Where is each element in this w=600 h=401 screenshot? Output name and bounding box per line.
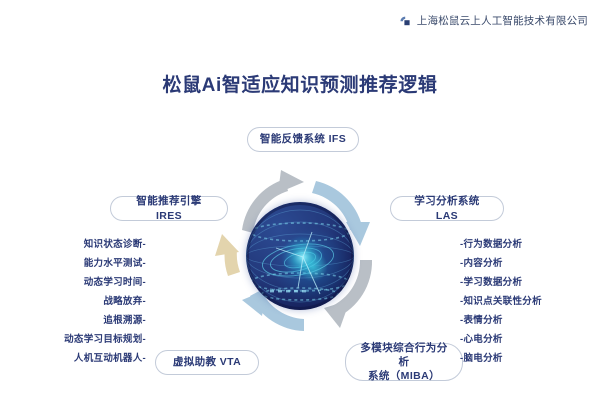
list-item: -脑电分析 bbox=[460, 349, 594, 368]
list-item: -表情分析 bbox=[460, 311, 594, 330]
node-ifs-label: 智能反馈系统 IFS bbox=[260, 132, 346, 146]
list-item: -心电分析 bbox=[460, 330, 594, 349]
node-las-label: 学习分析系统 LAS bbox=[402, 194, 492, 222]
list-item: 人机互动机器人- bbox=[12, 349, 146, 368]
list-item: 战略放弃- bbox=[12, 292, 146, 311]
list-item: 能力水平测试- bbox=[12, 254, 146, 273]
list-item: -知识点关联性分析 bbox=[460, 292, 594, 311]
left-feature-list: 知识状态诊断- 能力水平测试- 动态学习时间- 战略放弃- 追根溯源- 动态学习… bbox=[12, 235, 146, 368]
list-item: 知识状态诊断- bbox=[12, 235, 146, 254]
node-ires[interactable]: 智能推荐引擎 IRES bbox=[110, 196, 228, 221]
header: 上海松鼠云上人工智能技术有限公司 bbox=[399, 13, 588, 28]
node-ires-label: 智能推荐引擎 IRES bbox=[122, 194, 216, 222]
node-las[interactable]: 学习分析系统 LAS bbox=[390, 196, 504, 221]
company-name: 上海松鼠云上人工智能技术有限公司 bbox=[417, 13, 588, 28]
node-miba-label-line2: 系统（MIBA） bbox=[368, 370, 440, 382]
list-item: 动态学习时间- bbox=[12, 273, 146, 292]
node-miba-label-line1: 多模块综合行为分析 bbox=[360, 342, 447, 368]
node-miba[interactable]: 多模块综合行为分析 系统（MIBA） bbox=[345, 343, 463, 381]
list-item: -行为数据分析 bbox=[460, 235, 594, 254]
squirrel-logo-icon bbox=[399, 14, 412, 27]
slide-canvas: 上海松鼠云上人工智能技术有限公司 松鼠Ai智适应知识预测推荐逻辑 bbox=[0, 0, 600, 401]
right-feature-list: -行为数据分析 -内容分析 -学习数据分析 -知识点关联性分析 -表情分析 -心… bbox=[460, 235, 594, 368]
center-graphic bbox=[212, 168, 388, 344]
node-vta[interactable]: 虚拟助教 VTA bbox=[155, 350, 259, 375]
list-item: -学习数据分析 bbox=[460, 273, 594, 292]
list-item: 追根溯源- bbox=[12, 311, 146, 330]
tech-sphere-icon bbox=[246, 202, 354, 310]
page-title: 松鼠Ai智适应知识预测推荐逻辑 bbox=[0, 70, 600, 97]
node-miba-label: 多模块综合行为分析 系统（MIBA） bbox=[357, 341, 451, 384]
list-item: -内容分析 bbox=[460, 254, 594, 273]
node-ifs[interactable]: 智能反馈系统 IFS bbox=[247, 127, 359, 152]
node-vta-label: 虚拟助教 VTA bbox=[173, 355, 241, 369]
arrow-left bbox=[215, 234, 240, 276]
list-item: 动态学习目标规划- bbox=[12, 330, 146, 349]
